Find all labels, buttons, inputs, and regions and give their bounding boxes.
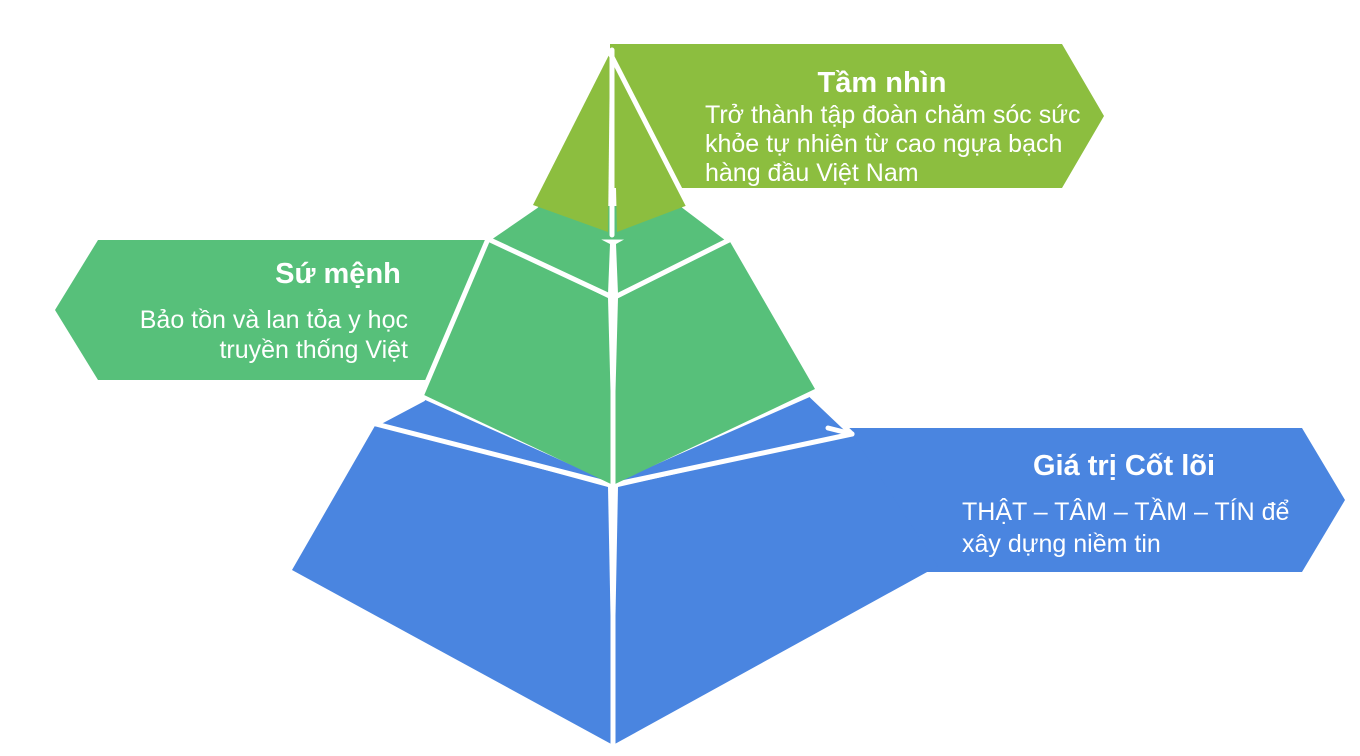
vision-desc-line-2: khỏe tự nhiên từ cao ngựa bạch xyxy=(705,130,1062,158)
tier-vision[interactable]: Tầm nhìn Trở thành tập đoàn chăm sóc sức… xyxy=(533,44,1104,235)
vision-title: Tầm nhìn xyxy=(818,67,947,99)
diagram-canvas: Giá trị Cốt lõi THẬT – TÂM – TẦM – TÍN đ… xyxy=(0,0,1360,756)
core-values-desc-line-1: THẬT – TÂM – TẦM – TÍN để xyxy=(962,497,1289,526)
vision-left-face xyxy=(533,53,610,232)
core-values-desc-line-2: xây dựng niềm tin xyxy=(962,530,1161,558)
mission-title: Sứ mệnh xyxy=(275,258,401,290)
vision-desc-line-3: hàng đầu Việt Nam xyxy=(705,159,919,187)
tier-core-values[interactable]: Giá trị Cốt lõi THẬT – TÂM – TẦM – TÍN đ… xyxy=(292,396,1345,750)
mission-desc-line-1: Bảo tồn và lan tỏa y học xyxy=(140,306,408,334)
core-values-title: Giá trị Cốt lõi xyxy=(1033,450,1215,482)
mission-desc-line-2: truyền thống Việt xyxy=(219,336,408,364)
vision-desc-line-1: Trở thành tập đoàn chăm sóc sức xyxy=(705,101,1080,129)
pyramid-diagram: Giá trị Cốt lõi THẬT – TÂM – TẦM – TÍN đ… xyxy=(0,0,1360,756)
